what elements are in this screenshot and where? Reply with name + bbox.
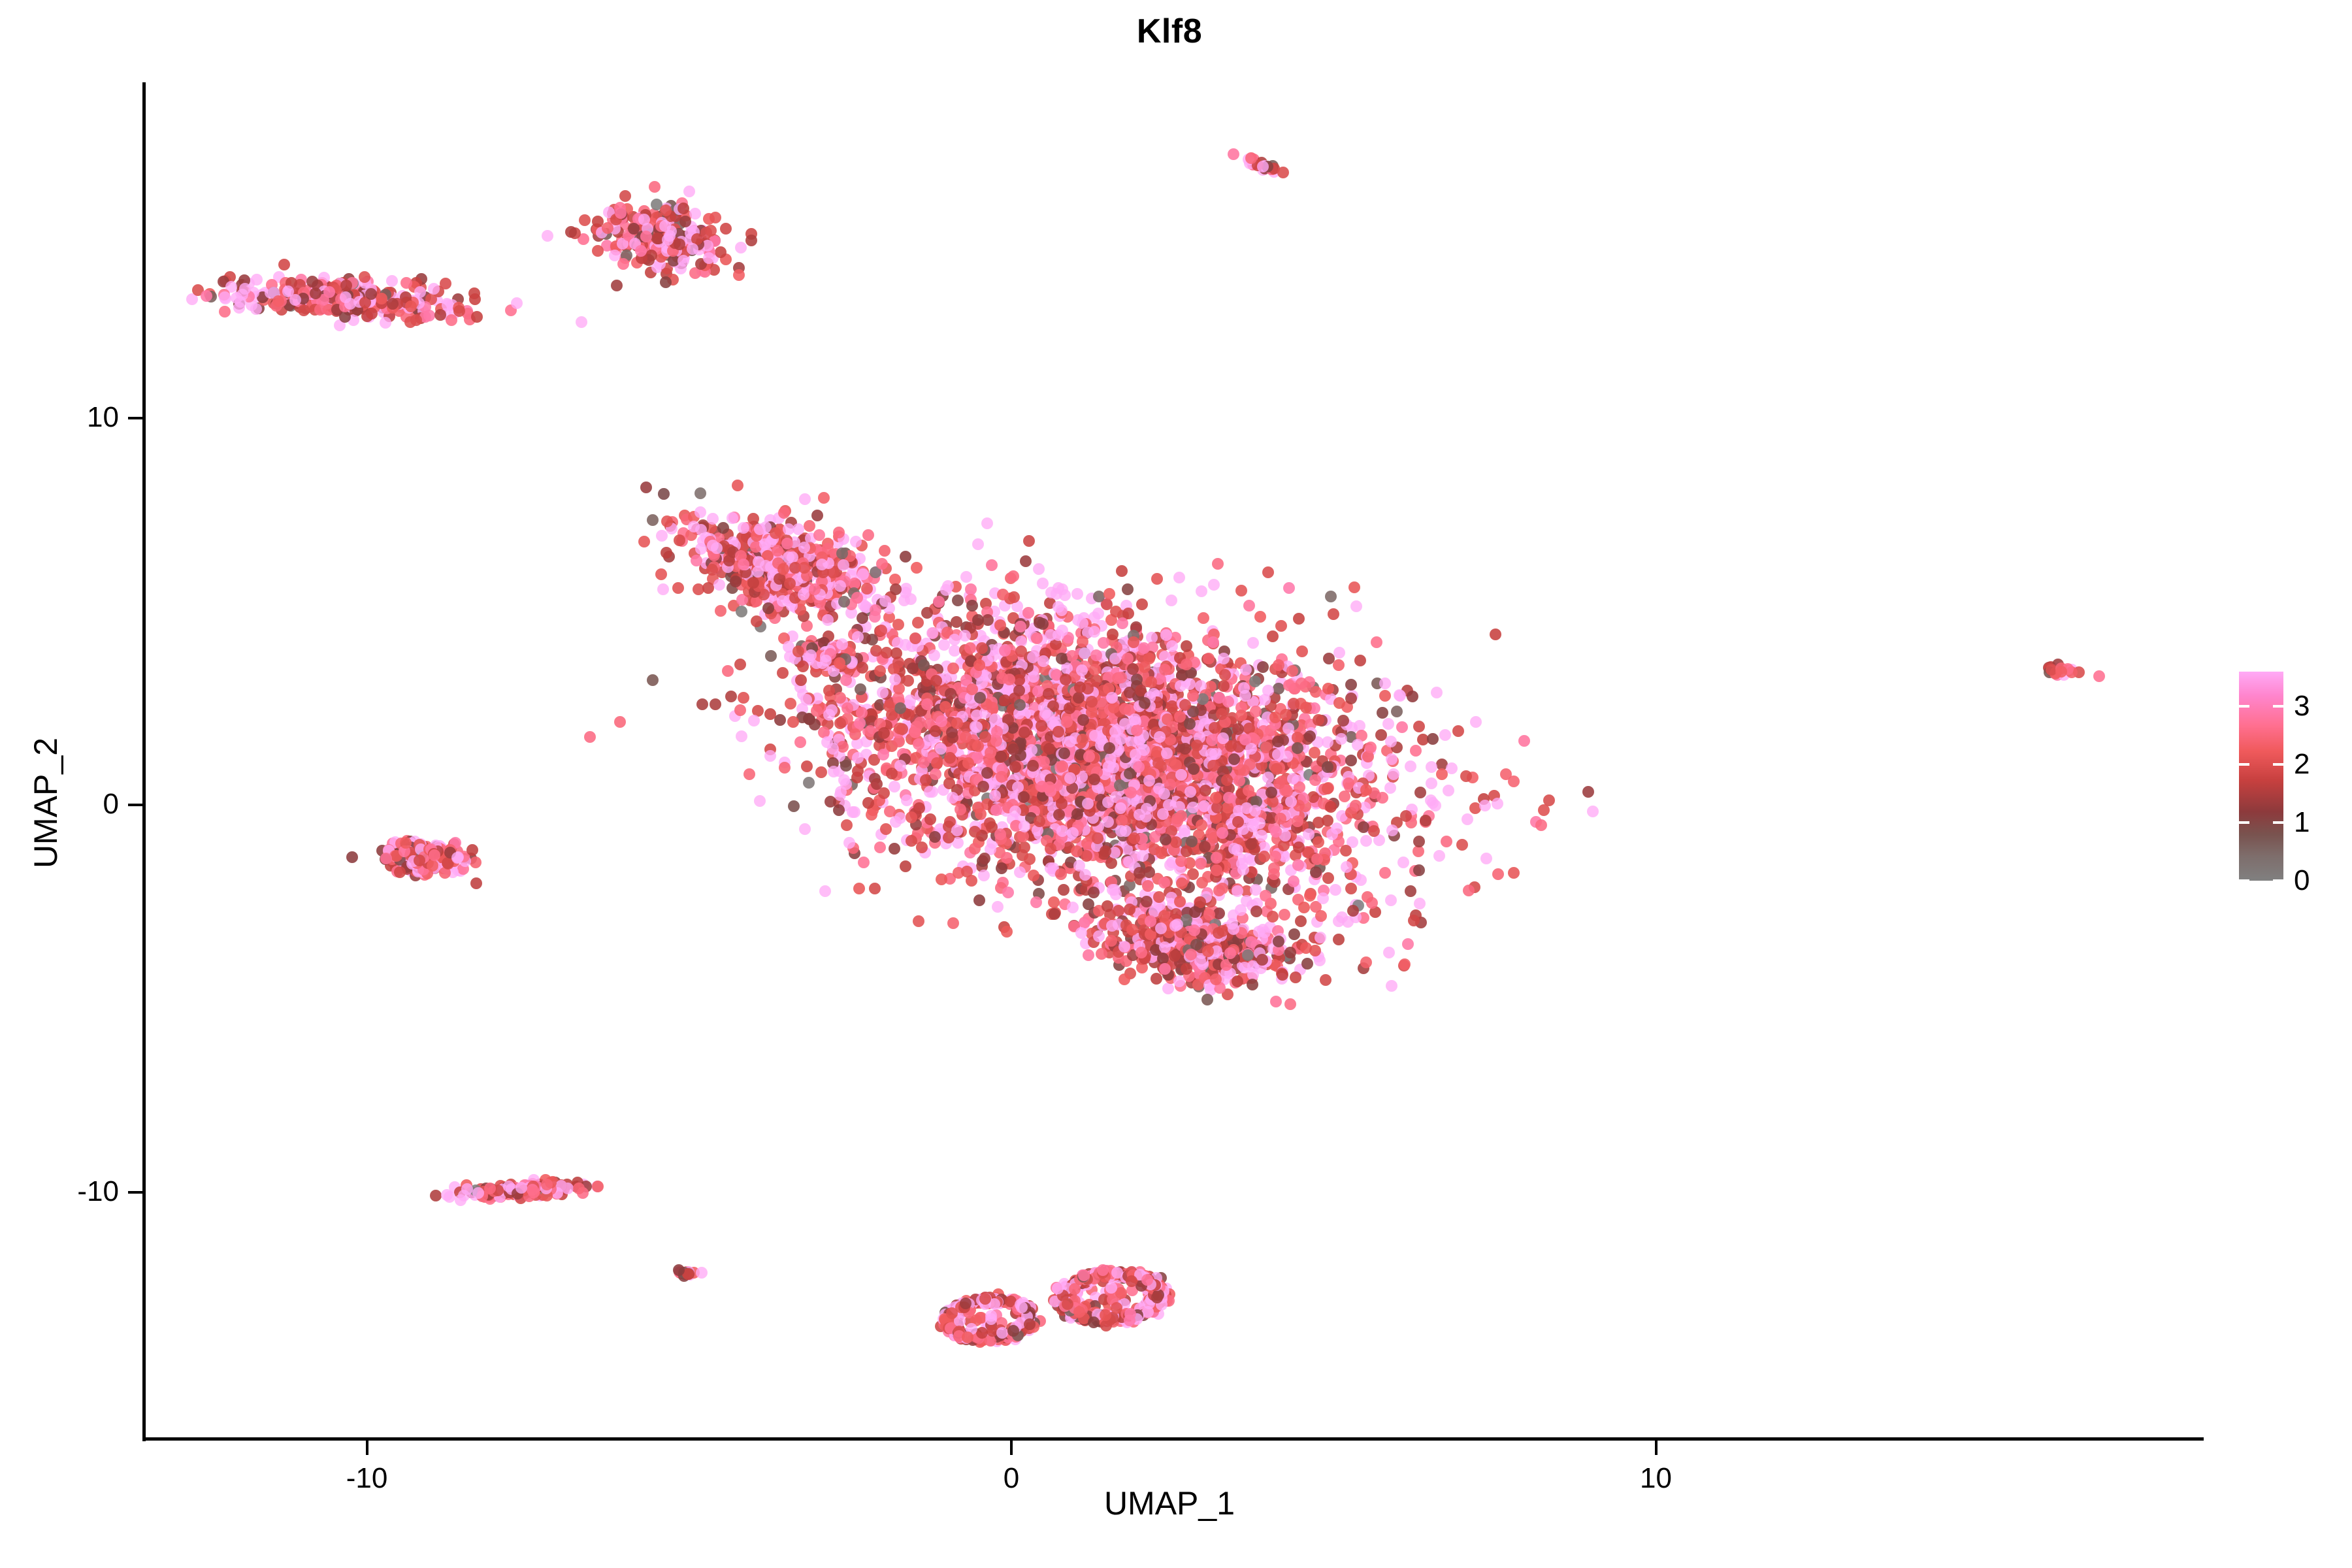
scatter-point: [1217, 827, 1228, 839]
scatter-point: [1538, 804, 1550, 816]
scatter-point: [1535, 819, 1547, 831]
scatter-point: [913, 802, 925, 814]
scatter-point: [840, 760, 852, 772]
scatter-point: [969, 843, 981, 855]
scatter-point: [427, 860, 438, 872]
scatter-point: [1426, 777, 1437, 789]
scatter-point: [1020, 555, 1032, 567]
scatter-point: [794, 736, 806, 748]
scatter-point: [1354, 655, 1366, 666]
scatter-point: [1066, 650, 1078, 662]
scatter-point: [788, 800, 800, 812]
scatter-point: [1210, 792, 1222, 804]
scatter-point: [924, 813, 936, 825]
scatter-point: [765, 650, 777, 662]
scatter-point: [1055, 868, 1067, 880]
scatter-point: [837, 741, 849, 753]
scatter-point: [1098, 637, 1109, 649]
scatter-point: [1273, 777, 1285, 789]
scatter-point: [1479, 800, 1491, 811]
scatter-point: [1414, 787, 1426, 798]
scatter-point: [866, 809, 877, 821]
scatter-point: [1212, 558, 1224, 570]
scatter-point: [1452, 725, 1464, 737]
scatter-point: [687, 243, 698, 255]
scatter-point: [1124, 768, 1135, 779]
scatter-point: [511, 297, 523, 309]
scatter-point: [484, 1183, 496, 1194]
scatter-point: [1365, 742, 1377, 753]
scatter-point: [1071, 588, 1083, 600]
scatter-point: [515, 1182, 527, 1194]
scatter-point: [1348, 581, 1360, 593]
scatter-point: [733, 269, 745, 281]
scatter-point: [1032, 685, 1044, 697]
scatter-point: [1136, 598, 1148, 610]
scatter-point: [1362, 891, 1373, 903]
scatter-point: [981, 517, 993, 529]
scatter-point: [1313, 817, 1324, 828]
scatter-point: [949, 645, 960, 657]
page-title: Klf8: [0, 12, 2339, 51]
scatter-point: [1360, 835, 1372, 847]
scatter-point: [1119, 718, 1131, 730]
scatter-point: [754, 795, 766, 807]
scatter-point: [1275, 620, 1287, 632]
scatter-point: [1076, 664, 1088, 676]
scatter-point: [1205, 748, 1217, 760]
scatter-point: [1436, 768, 1448, 780]
scatter-point: [2093, 670, 2105, 682]
scatter-point: [1413, 836, 1425, 847]
scatter-point: [365, 288, 377, 300]
scatter-point: [1018, 791, 1030, 803]
scatter-point: [972, 740, 984, 752]
scatter-point: [1218, 653, 1230, 664]
scatter-point: [1027, 651, 1039, 663]
scatter-point: [1019, 841, 1030, 853]
scatter-point: [1105, 753, 1117, 764]
scatter-point: [1377, 792, 1388, 804]
scatter-point: [1117, 617, 1128, 629]
scatter-point: [1325, 801, 1337, 813]
scatter-point: [1446, 762, 1458, 774]
scatter-point: [1232, 885, 1243, 897]
scatter-point: [366, 308, 378, 319]
scatter-point: [819, 885, 831, 897]
scatter-point: [858, 857, 870, 868]
scatter-point: [928, 649, 940, 661]
scatter-point: [979, 853, 990, 864]
scatter-point: [1313, 714, 1324, 726]
scatter-point: [410, 314, 422, 326]
scatter-point: [838, 774, 850, 786]
scatter-point: [662, 234, 674, 246]
scatter-point: [1283, 582, 1295, 594]
scatter-point: [469, 293, 481, 305]
scatter-point: [736, 730, 747, 742]
scatter-point: [470, 857, 482, 868]
scatter-point: [470, 877, 482, 889]
scatter-point: [947, 792, 958, 804]
scatter-point: [936, 874, 947, 885]
scatter-point: [1322, 683, 1334, 694]
scatter-point: [1379, 678, 1391, 689]
scatter-point: [878, 787, 890, 799]
scatter-point: [1441, 836, 1452, 847]
scatter-point: [340, 291, 351, 303]
scatter-point: [722, 665, 734, 677]
scatter-point: [1235, 585, 1247, 596]
scatter-point: [986, 559, 998, 571]
scatter-point: [1002, 887, 1014, 898]
scatter-point: [906, 835, 917, 847]
scatter-point: [787, 716, 799, 728]
scatter-point: [892, 619, 904, 630]
scatter-point: [434, 309, 446, 321]
scatter-point: [1184, 678, 1196, 690]
scatter-point: [1187, 802, 1199, 813]
scatter-point: [584, 731, 596, 743]
scatter-point: [1360, 784, 1372, 796]
scatter-point: [1582, 786, 1594, 798]
scatter-point: [466, 844, 478, 856]
scatter-point: [1518, 735, 1530, 747]
scatter-point: [1043, 688, 1054, 700]
scatter-point: [930, 768, 941, 780]
scatter-point: [614, 716, 626, 728]
scatter-point: [1088, 626, 1100, 638]
scatter-point: [1292, 815, 1303, 827]
scatter-point: [992, 901, 1004, 913]
scatter-point: [1407, 691, 1418, 702]
scatter-point: [1314, 955, 1326, 966]
scatter-point: [947, 662, 959, 674]
scatter-point: [1309, 774, 1321, 786]
scatter-point: [1250, 706, 1262, 717]
scatter-point: [340, 280, 352, 291]
scatter-point: [1371, 636, 1382, 648]
scatter-point: [1587, 806, 1599, 817]
scatter-point: [628, 223, 640, 235]
scatter-point: [602, 222, 613, 234]
scatter-point: [905, 593, 917, 605]
scatter-point: [440, 278, 451, 289]
scatter-point: [1322, 736, 1333, 748]
scatter-point: [1480, 853, 1492, 864]
scatter-point: [400, 277, 412, 289]
scatter-point: [960, 731, 972, 743]
scatter-point: [1296, 645, 1308, 657]
scatter-point: [1122, 653, 1134, 664]
scatter-point: [1282, 723, 1294, 734]
scatter-point: [1219, 669, 1231, 681]
scatter-point: [1433, 850, 1445, 862]
scatter-point: [777, 667, 789, 679]
scatter-point: [423, 310, 435, 321]
scatter-point: [921, 698, 933, 710]
scatter-point: [1217, 732, 1229, 744]
scatter-point: [1339, 791, 1350, 802]
scatter-point: [826, 704, 838, 716]
scatter-point: [1322, 783, 1333, 794]
scatter-point: [298, 304, 310, 316]
scatter-point: [649, 181, 661, 193]
scatter-point: [1088, 774, 1100, 785]
scatter-point: [995, 751, 1007, 762]
scatter-point: [1379, 690, 1391, 702]
scatter-point: [1151, 573, 1163, 585]
scatter-point: [1056, 798, 1068, 809]
plot-panel: [144, 85, 2202, 1439]
scatter-point: [799, 823, 811, 835]
scatter-point: [1067, 827, 1079, 839]
scatter-point: [453, 305, 465, 317]
scatter-point: [1257, 661, 1269, 673]
scatter-point: [611, 280, 623, 291]
scatter-point: [841, 702, 853, 714]
scatter-point: [1139, 697, 1151, 709]
scatter-point: [1043, 743, 1055, 755]
chart-root: Klf8 100-10-10010 UMAP_1 UMAP_2 3210: [0, 0, 2352, 1568]
scatter-point: [1358, 821, 1369, 833]
scatter-point: [978, 870, 990, 881]
scatter-point: [592, 1181, 604, 1192]
scatter-point: [823, 685, 835, 696]
scatter-point: [1073, 692, 1085, 704]
scatter-point: [1122, 583, 1134, 595]
scatter-point: [1188, 763, 1200, 775]
scatter-point: [1028, 671, 1039, 683]
scatter-point: [1074, 681, 1086, 693]
scatter-point: [969, 826, 981, 838]
scatter-point: [1056, 625, 1068, 636]
scatter-point: [815, 766, 827, 778]
scatter-point: [683, 186, 695, 197]
scatter-point: [869, 883, 881, 894]
scatter-point: [394, 866, 406, 878]
scatter-point: [1293, 613, 1305, 625]
scatter-point: [1024, 853, 1036, 865]
scatter-point: [1322, 761, 1333, 773]
scatter-point: [1045, 843, 1056, 855]
scatter-point: [1426, 761, 1437, 773]
scatter-point: [1166, 700, 1178, 712]
scatter-point: [1368, 825, 1380, 837]
scatter-point: [1350, 600, 1362, 612]
scatter-point: [400, 837, 412, 849]
scatter-point: [1285, 796, 1297, 808]
scatter-point: [1235, 710, 1247, 721]
scatter-point: [1400, 810, 1412, 822]
scatter-point: [272, 295, 284, 307]
scatter-point: [541, 1179, 553, 1190]
scatter-point: [996, 771, 1007, 783]
scatter-point: [1077, 734, 1088, 745]
scatter-point: [542, 230, 553, 242]
scatter-point: [1439, 729, 1451, 741]
scatter-point: [977, 781, 989, 792]
scatter-point: [1166, 595, 1177, 606]
scatter-point: [1232, 816, 1244, 828]
scatter-point: [785, 698, 796, 710]
scatter-point: [1397, 857, 1409, 868]
scatter-point: [1071, 808, 1083, 820]
scatter-point: [1023, 535, 1035, 547]
scatter-point: [592, 245, 604, 257]
scatter-point: [235, 296, 246, 308]
scatter-point: [1508, 867, 1520, 879]
scatter-point: [1256, 830, 1267, 841]
scatter-point: [1158, 788, 1170, 800]
scatter-point: [1138, 642, 1150, 654]
scatter-point: [1160, 629, 1172, 641]
scatter-point: [615, 207, 627, 219]
scatter-point: [1405, 760, 1416, 772]
scatter-point: [1056, 760, 1068, 772]
scatter-point: [1156, 847, 1168, 859]
scatter-point: [841, 819, 853, 831]
scatter-point: [1335, 733, 1347, 745]
scatter-point: [912, 617, 924, 629]
scatter-point: [1286, 665, 1298, 677]
scatter-point: [579, 214, 591, 226]
scatter-point: [655, 568, 667, 580]
scatter-point: [710, 698, 721, 710]
scatter-point: [1333, 647, 1345, 659]
scatter-point: [1033, 563, 1045, 575]
scatter-point: [609, 250, 621, 261]
scatter-point: [1163, 799, 1175, 811]
scatter-point: [647, 514, 659, 526]
scatter-point: [1492, 868, 1504, 880]
scatter-point: [972, 538, 984, 550]
scatter-point: [1036, 720, 1047, 732]
scatter-point: [1427, 733, 1439, 745]
scatter-point: [1249, 676, 1261, 687]
scatter-point: [960, 571, 972, 583]
scatter-point: [1328, 608, 1339, 620]
scatter-point: [1243, 600, 1255, 612]
scatter-point: [990, 804, 1002, 816]
scatter-point: [573, 1183, 585, 1194]
scatter-point: [1105, 857, 1117, 869]
scatter-point: [694, 487, 706, 499]
scatter-point: [430, 1190, 442, 1201]
scatter-point: [1298, 902, 1310, 913]
scatter-point: [678, 255, 689, 267]
scatter-point: [1323, 653, 1335, 664]
scatter-point: [1103, 588, 1115, 600]
scatter-point: [1337, 715, 1349, 727]
scatter-point: [1001, 852, 1013, 864]
scatter-point: [1218, 680, 1230, 692]
scatter-point: [414, 855, 425, 866]
scatter-point: [764, 750, 776, 762]
scatter-point: [1037, 655, 1049, 667]
scatter-point: [940, 584, 952, 596]
scatter-point: [1181, 640, 1192, 652]
scatter-point: [804, 520, 815, 532]
scatter-point: [638, 536, 650, 547]
scatter-point: [1269, 711, 1281, 723]
scatter-point: [1198, 612, 1209, 624]
scatter-point: [387, 298, 399, 310]
scatter-point: [1208, 579, 1220, 591]
scatter-point: [1267, 630, 1279, 642]
scatter-point: [376, 293, 387, 304]
scatter-point: [889, 843, 900, 855]
scatter-point: [801, 760, 813, 772]
scatter-point: [720, 223, 732, 235]
scatter-point: [1206, 734, 1218, 746]
scatter-point: [619, 190, 631, 202]
scatter-point: [1396, 721, 1408, 733]
scatter-point: [1108, 702, 1120, 713]
scatter-point: [871, 778, 883, 790]
scatter-point: [929, 831, 941, 843]
scatter-point: [894, 812, 906, 824]
scatter-point: [1462, 813, 1473, 825]
scatter-point: [1088, 887, 1100, 898]
scatter-point: [745, 235, 757, 246]
scatter-point: [847, 806, 858, 818]
scatter-point: [996, 862, 1007, 874]
scatter-point: [779, 762, 791, 774]
scatter-point: [1333, 659, 1345, 671]
scatter-point: [1014, 866, 1026, 878]
scatter-point: [916, 841, 928, 853]
scatter-point: [1209, 722, 1220, 734]
scatter-point: [901, 794, 913, 806]
scatter-point: [935, 743, 947, 755]
scatter-point: [657, 583, 669, 595]
scatter-point: [1272, 749, 1284, 760]
scatter-point: [1089, 664, 1101, 676]
scatter-point: [1022, 607, 1034, 619]
scatter-point: [1345, 755, 1357, 766]
scatter-point: [1152, 757, 1164, 769]
scatter-point: [679, 216, 691, 227]
scatter-point: [843, 837, 855, 849]
scatter-point: [1116, 565, 1128, 577]
scatter-point: [1325, 591, 1337, 602]
scatter-point: [1233, 775, 1245, 787]
scatter-point: [1384, 782, 1396, 794]
scatter-point: [725, 691, 737, 702]
scatter-point: [673, 1264, 685, 1276]
scatter-point: [1313, 836, 1324, 848]
scatter-point: [877, 749, 889, 760]
scatter-point: [278, 259, 290, 270]
scatter-point: [889, 781, 900, 792]
scatter-point: [1292, 859, 1304, 871]
scatter-point: [811, 705, 823, 717]
scatter-point: [1123, 856, 1135, 868]
scatter-point: [938, 639, 950, 651]
scatter-point: [734, 659, 746, 670]
scatter-point: [1245, 152, 1257, 164]
scatter-point: [1508, 776, 1520, 787]
scatter-point: [856, 707, 868, 719]
scatter-point: [1145, 676, 1157, 688]
scatter-point: [911, 562, 923, 574]
scatter-point: [1211, 802, 1223, 813]
scatter-point: [451, 852, 463, 864]
scatter-point: [931, 757, 943, 769]
scatter-point: [1159, 664, 1171, 676]
scatter-point: [1110, 606, 1122, 617]
